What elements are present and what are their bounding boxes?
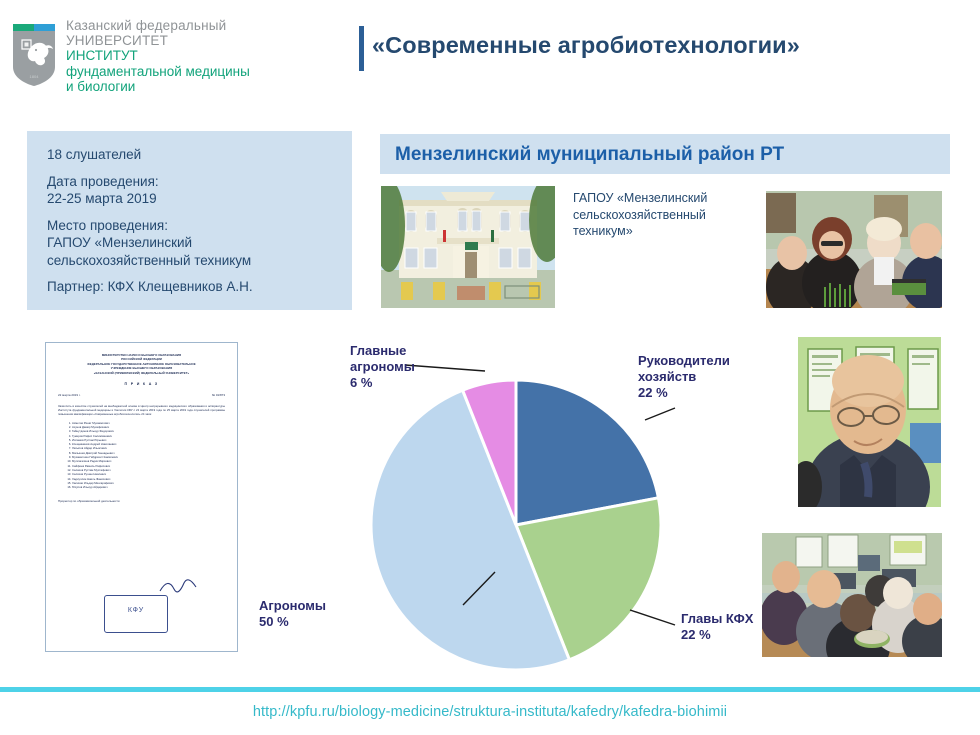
document-order-scan: МИНИСТЕРСТВО НАУКИ И ВЫСШЕГО ОБРАЗОВАНИЯ… (45, 342, 238, 652)
doc-name-list: Ахметов Ринат Мухаметович Ахунов Дамир М… (72, 421, 225, 490)
info-partner: Партнер: КФХ Клещевников А.Н. (47, 278, 334, 296)
doc-number: № 01/873 (212, 393, 225, 397)
pie-label-glavnye-agronomy: Главные агрономы 6 % (350, 343, 440, 391)
logo-line-3: ИНСТИТУТ (66, 48, 336, 64)
event-info-panel: 18 слушателей Дата проведения: 22-25 мар… (27, 131, 352, 310)
page-title: «Современные агробиотехнологии» (372, 32, 800, 59)
slide-root: 1804 Казанский федеральный УНИВЕРСИТЕТ И… (0, 0, 980, 735)
info-place-value-2: сельскохозяйственный техникум (47, 252, 334, 270)
logo-line-1: Казанский федеральный (66, 18, 336, 33)
title-accent-bar (359, 26, 364, 71)
info-date-value: 22-25 марта 2019 (47, 190, 334, 208)
doc-body: Зачислить в качестве слушателей на внебю… (58, 404, 225, 417)
info-place-value-1: ГАПОУ «Мензелинский (47, 234, 334, 252)
svg-text:1804: 1804 (30, 74, 40, 79)
kfu-logo-block: 1804 Казанский федеральный УНИВЕРСИТЕТ И… (10, 18, 340, 98)
footer-url[interactable]: http://kpfu.ru/biology-medicine/struktur… (0, 704, 980, 720)
doc-date: 22 марта 2019 г. (58, 393, 80, 397)
doc-stamp: КФУ (104, 595, 168, 633)
pie-label-glavy-kfh: Главы КФХ 22 % (681, 611, 776, 643)
section-heading: Мензелинский муниципальный район РТ (395, 144, 784, 166)
pie-label-rukovoditeli: Руководители хозяйств 22 % (638, 353, 738, 401)
footer-divider (0, 687, 980, 692)
doc-kind: П Р И К А З (58, 382, 225, 386)
pie-chart: Главные агрономы 6 % Руководители хозяйс… (345, 330, 705, 670)
info-date-label: Дата проведения: (47, 173, 334, 191)
doc-ministry-5: «КАЗАНСКИЙ (ПРИВОЛЖСКИЙ) ФЕДЕРАЛЬНЫЙ УНИ… (58, 371, 225, 375)
photo-participants-examining-seedlings (766, 191, 942, 308)
info-attendees: 18 слушателей (47, 146, 334, 164)
photo-classroom-group-work (762, 533, 942, 657)
logo-line-2: УНИВЕРСИТЕТ (66, 33, 336, 48)
kfu-logo-text: Казанский федеральный УНИВЕРСИТЕТ ИНСТИТ… (66, 18, 336, 95)
doc-name-item: Юсупов Ильнур Айдарович (72, 485, 225, 489)
pie-label-agronomy: Агрономы 50 % (259, 598, 359, 630)
logo-line-5: и биологии (66, 79, 336, 95)
logo-line-4: фундаментальной медицины (66, 64, 336, 80)
kfu-shield-icon: 1804 (10, 24, 58, 86)
photo-participant-portrait (798, 337, 941, 507)
photo-building-caption: ГАПОУ «Мензелинский сельскохозяйственный… (573, 190, 748, 240)
doc-signature-role: Проректор по образовательной деятельност… (58, 499, 120, 503)
photo-technical-college-building (381, 186, 555, 308)
info-place-label: Место проведения: (47, 217, 334, 235)
